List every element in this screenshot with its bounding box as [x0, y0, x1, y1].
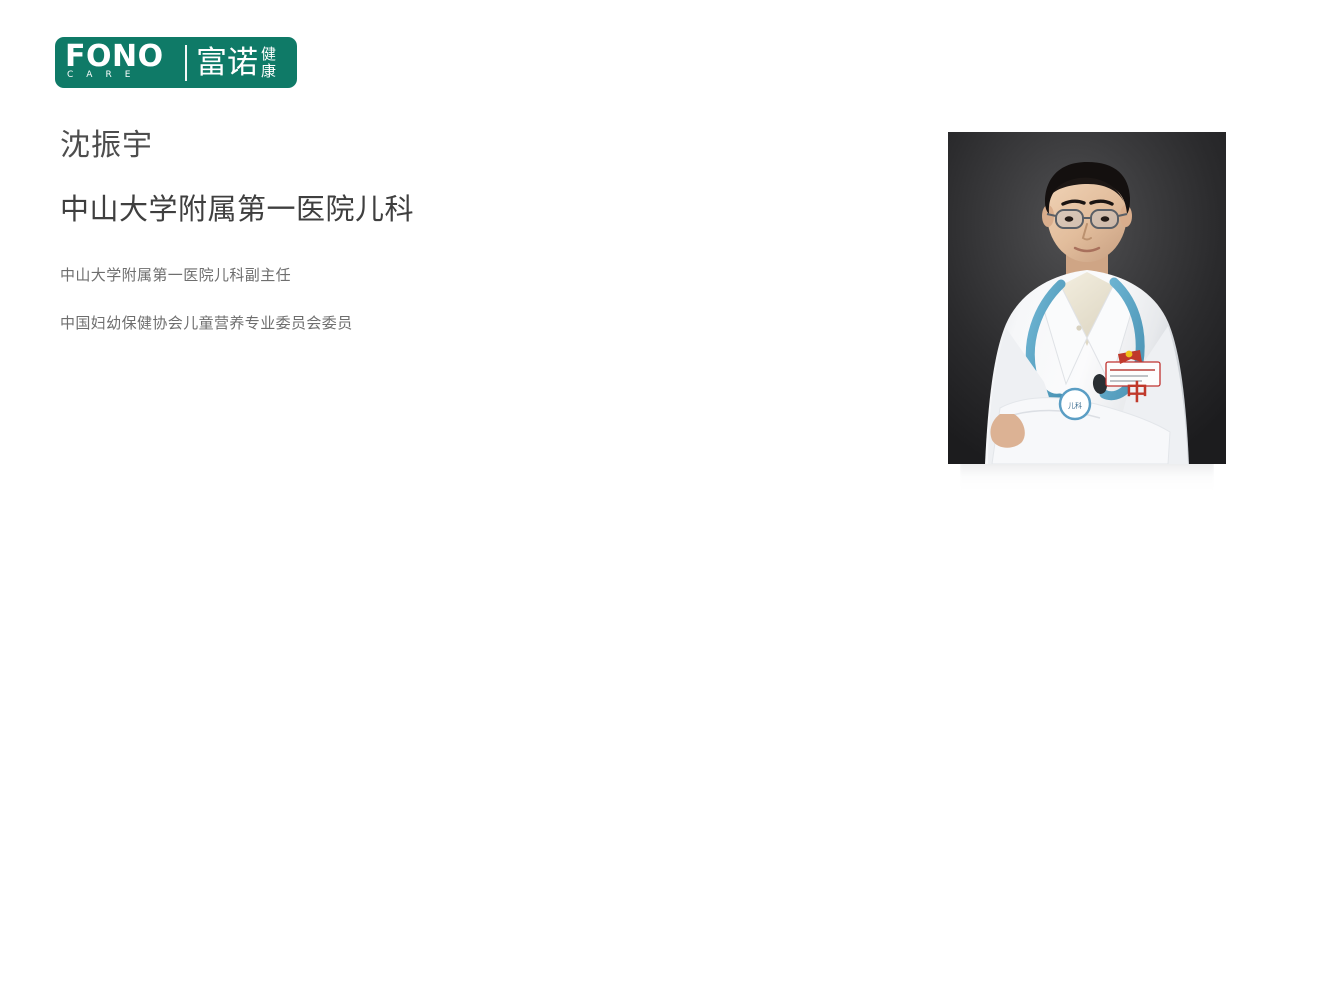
svg-text:儿科: 儿科: [1068, 401, 1082, 410]
logo-divider: [185, 45, 187, 81]
doctor-portrait-photo: 儿科 中: [948, 132, 1226, 464]
logo-fono-text: FONO: [65, 42, 164, 72]
logo-care-text: CARE: [67, 70, 143, 80]
portrait-reflection-gradient: [960, 464, 1214, 490]
credential-list: 中山大学附属第一医院儿科副主任 中国妇幼保健协会儿童营养专业委员会委员: [60, 266, 353, 362]
doctor-name: 沈振宇: [60, 128, 153, 164]
credential-item: 中国妇幼保健协会儿童营养专业委员会委员: [60, 314, 353, 334]
logo-chinese-main-text: 富诺: [196, 46, 258, 80]
brand-logo: FONO CARE 富诺 健 康: [55, 37, 297, 88]
logo-latin-group: FONO CARE: [65, 43, 183, 83]
credential-item: 中山大学附属第一医院儿科副主任: [60, 266, 353, 286]
doctor-affiliation: 中山大学附属第一医院儿科: [60, 191, 414, 229]
portrait-reflection: [960, 464, 1214, 490]
doctor-portrait-container: 儿科 中: [948, 132, 1226, 464]
svg-text:中: 中: [1126, 381, 1148, 406]
logo-chinese-stack-top: 健: [261, 46, 276, 63]
logo-chinese-stack: 健 康: [261, 46, 276, 80]
logo-chinese-stack-bottom: 康: [261, 63, 276, 80]
